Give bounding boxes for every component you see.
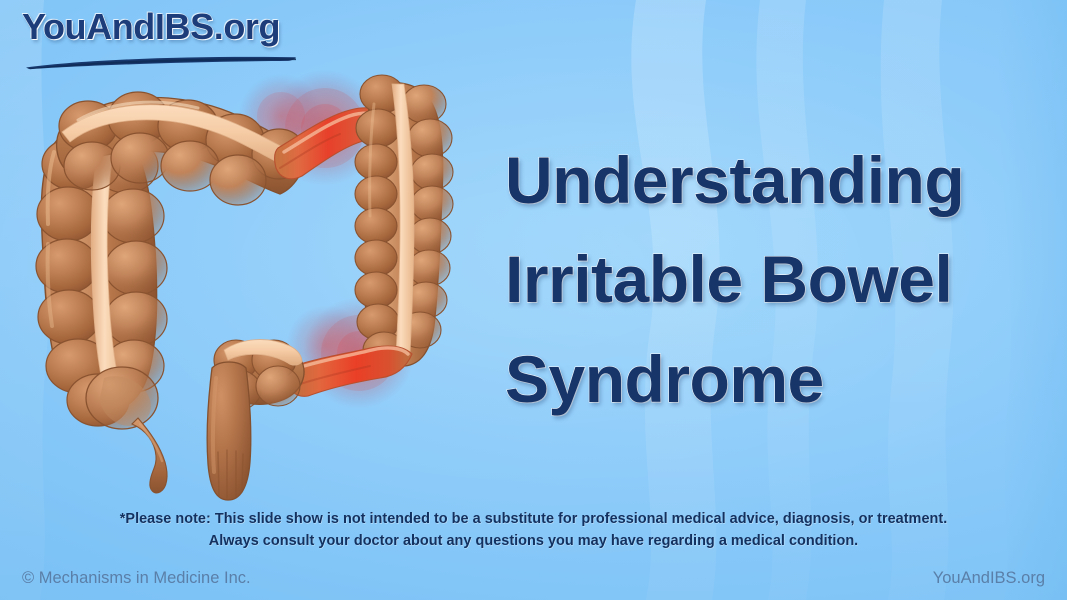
site-logo-text: YouAndIBS.org	[22, 9, 322, 45]
slide-footer: © Mechanisms in Medicine Inc. YouAndIBS.…	[0, 556, 1067, 600]
title-line-1: Understanding	[505, 147, 1050, 214]
page-title: Understanding Irritable Bowel Syndrome	[505, 147, 1050, 413]
large-intestine-colon-illustration	[26, 48, 496, 503]
rectum	[207, 362, 251, 500]
appendix	[132, 418, 167, 493]
descending-colon	[355, 75, 453, 368]
disclaimer-line-2: Always consult your doctor about any que…	[0, 530, 1067, 552]
copyright-text: © Mechanisms in Medicine Inc.	[22, 569, 251, 588]
disclaimer-line-1: *Please note: This slide show is not int…	[0, 508, 1067, 530]
cecum	[86, 367, 158, 429]
title-line-2: Irritable Bowel	[505, 246, 1050, 313]
ibs-title-slide: YouAndIBS.org	[0, 0, 1067, 600]
footer-site-link[interactable]: YouAndIBS.org	[933, 569, 1045, 588]
title-line-3: Syndrome	[505, 346, 1050, 413]
disclaimer-note: *Please note: This slide show is not int…	[0, 508, 1067, 553]
